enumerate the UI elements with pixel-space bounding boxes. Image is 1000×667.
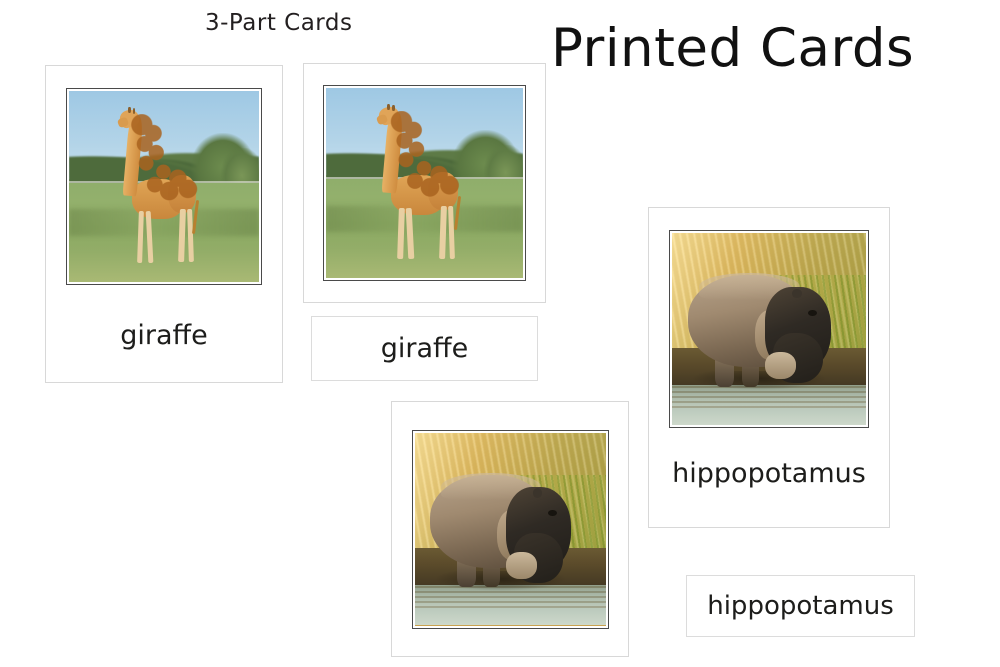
card-giraffe-control[interactable]: giraffe: [45, 65, 283, 383]
card-giraffe-label[interactable]: giraffe: [311, 316, 538, 381]
photo-frame-hippopotamus: [669, 230, 869, 428]
card-giraffe-picture[interactable]: [303, 63, 546, 303]
photo-hippopotamus-2: [415, 433, 606, 626]
photo-frame-hippopotamus-picture: [412, 430, 609, 629]
photo-hippopotamus: [672, 233, 866, 425]
label-text-giraffe: giraffe: [381, 335, 469, 362]
label-text-hippopotamus: hippopotamus: [707, 593, 894, 619]
card-label-hippopotamus: hippopotamus: [672, 460, 866, 487]
card-hippopotamus-label[interactable]: hippopotamus: [686, 575, 915, 637]
page-title-three-part-cards: 3-Part Cards: [205, 10, 352, 36]
photo-frame-giraffe-picture: [323, 85, 526, 281]
photo-frame-giraffe: [66, 88, 262, 285]
page-title-printed-cards: Printed Cards: [551, 21, 914, 77]
photo-giraffe: [69, 91, 259, 282]
card-hippopotamus-picture[interactable]: [391, 401, 629, 657]
photo-giraffe-2: [326, 88, 523, 278]
card-hippopotamus-control[interactable]: hippopotamus: [648, 207, 890, 528]
card-label-giraffe: giraffe: [120, 322, 208, 349]
three-part-cards-page: 3-Part Cards Printed Cards: [0, 0, 1000, 667]
